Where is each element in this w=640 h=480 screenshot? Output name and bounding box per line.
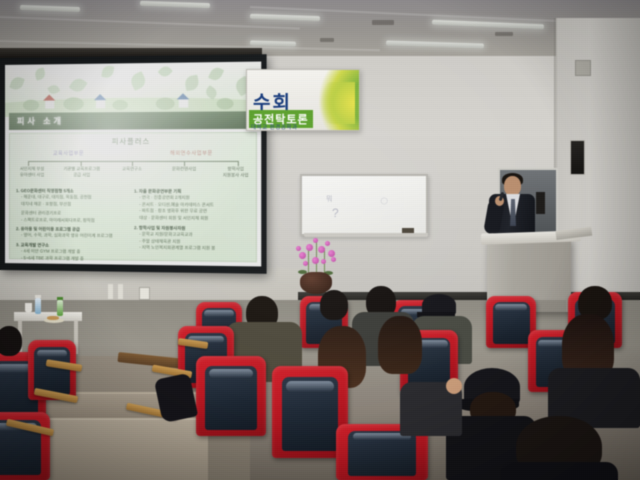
whiteboard-eraser bbox=[402, 228, 414, 233]
org-header-right: 해외연수사업부문 bbox=[157, 150, 226, 157]
slide-title-text: 피사 소개 bbox=[9, 116, 64, 127]
event-banner: 수회 공전탁토론 대학교 환경공학과 bbox=[246, 69, 360, 131]
slide-right-column: 1. 자율 문화공연부문 기획 - 연극 · 진흥공연회 2개지원 - 콘서트 … bbox=[134, 188, 252, 252]
aisle-step bbox=[30, 418, 208, 480]
marker-tray bbox=[304, 233, 428, 237]
drink-bottle bbox=[57, 300, 63, 316]
house-illustration bbox=[45, 101, 54, 109]
wall-pipe bbox=[108, 284, 113, 299]
audience-head bbox=[0, 326, 22, 356]
water-bottle bbox=[35, 298, 41, 314]
ceiling-light bbox=[250, 14, 320, 21]
slide-content: 피사플러스 교육사업부문 해외연수사업부문 서인지체 부설 유아센터 사업 기관… bbox=[9, 132, 257, 262]
ceiling-light bbox=[20, 5, 80, 12]
house-illustration bbox=[96, 100, 105, 108]
audience-body bbox=[500, 462, 618, 480]
org-box: 기관별 교육프로그램 공급 사업 bbox=[60, 166, 103, 178]
slide-brand-text: 피사플러스 bbox=[10, 136, 256, 147]
banner-swoosh-graphic bbox=[311, 82, 355, 124]
org-box: 항학사업 지원봉사 사업 bbox=[213, 166, 258, 178]
audience-head bbox=[378, 316, 422, 374]
slide-title-bar: 피사 소개 bbox=[9, 111, 257, 130]
org-box: 서인지체 부설 유아센터 사업 bbox=[12, 166, 52, 178]
audience-head bbox=[320, 290, 348, 320]
org-box: 교육연구소 bbox=[111, 166, 152, 172]
wall-vent bbox=[575, 60, 591, 76]
house-illustration bbox=[179, 99, 188, 107]
org-header-left: 교육사업부문 bbox=[38, 150, 99, 157]
audience-hand bbox=[446, 378, 462, 394]
slide-left-column: 1. GEO문화센터 직영점형 5개소 - 해운대, 대구로, 대치점, 목동점… bbox=[16, 188, 130, 263]
wall-speaker bbox=[536, 192, 545, 214]
seat bbox=[196, 356, 266, 436]
bullet: - 지역 노인복지회관계열 프로그램 지원 봉 bbox=[134, 245, 252, 253]
org-box: 문화컨텐사업 bbox=[163, 166, 205, 172]
wall-speaker bbox=[570, 140, 585, 175]
banner-affiliation: 대학교 환경공학과 bbox=[251, 123, 298, 131]
whiteboard-mark: 뭐 bbox=[326, 194, 332, 204]
slide-header-illustration bbox=[5, 62, 261, 117]
wall-pipe bbox=[118, 284, 123, 299]
presenter-head bbox=[504, 176, 521, 196]
whiteboard-mark: ◌ bbox=[380, 192, 388, 208]
paper-cup bbox=[25, 303, 32, 312]
baseball-cap bbox=[422, 294, 456, 316]
presentation-slide: 피사 소개 피사플러스 교육사업부문 해외연수사업부문 서인지체 부설 유아센터… bbox=[5, 62, 261, 267]
power-outlet bbox=[139, 287, 150, 300]
whiteboard: 뭐 ? ◌ bbox=[300, 174, 428, 236]
snack bbox=[47, 316, 59, 320]
ceiling-light bbox=[386, 40, 484, 48]
bullet: 문화센터 관리경기프로 bbox=[16, 207, 130, 217]
lecture-hall-photo: 피사 소개 피사플러스 교육사업부문 해외연수사업부문 서인지체 부설 유아센터… bbox=[0, 0, 640, 480]
ceiling-light bbox=[140, 1, 210, 8]
ceiling-light bbox=[432, 20, 544, 30]
projection-screen: 피사 소개 피사플러스 교육사업부문 해외연수사업부문 서인지체 부설 유아센터… bbox=[0, 54, 267, 274]
bullet: - 5~6세 TBE 과학 프로그램 개발 중 bbox=[16, 255, 130, 263]
org-chart-headers: 교육사업부문 해외연수사업부문 bbox=[10, 150, 256, 160]
whiteboard-mark: ? bbox=[332, 206, 339, 220]
